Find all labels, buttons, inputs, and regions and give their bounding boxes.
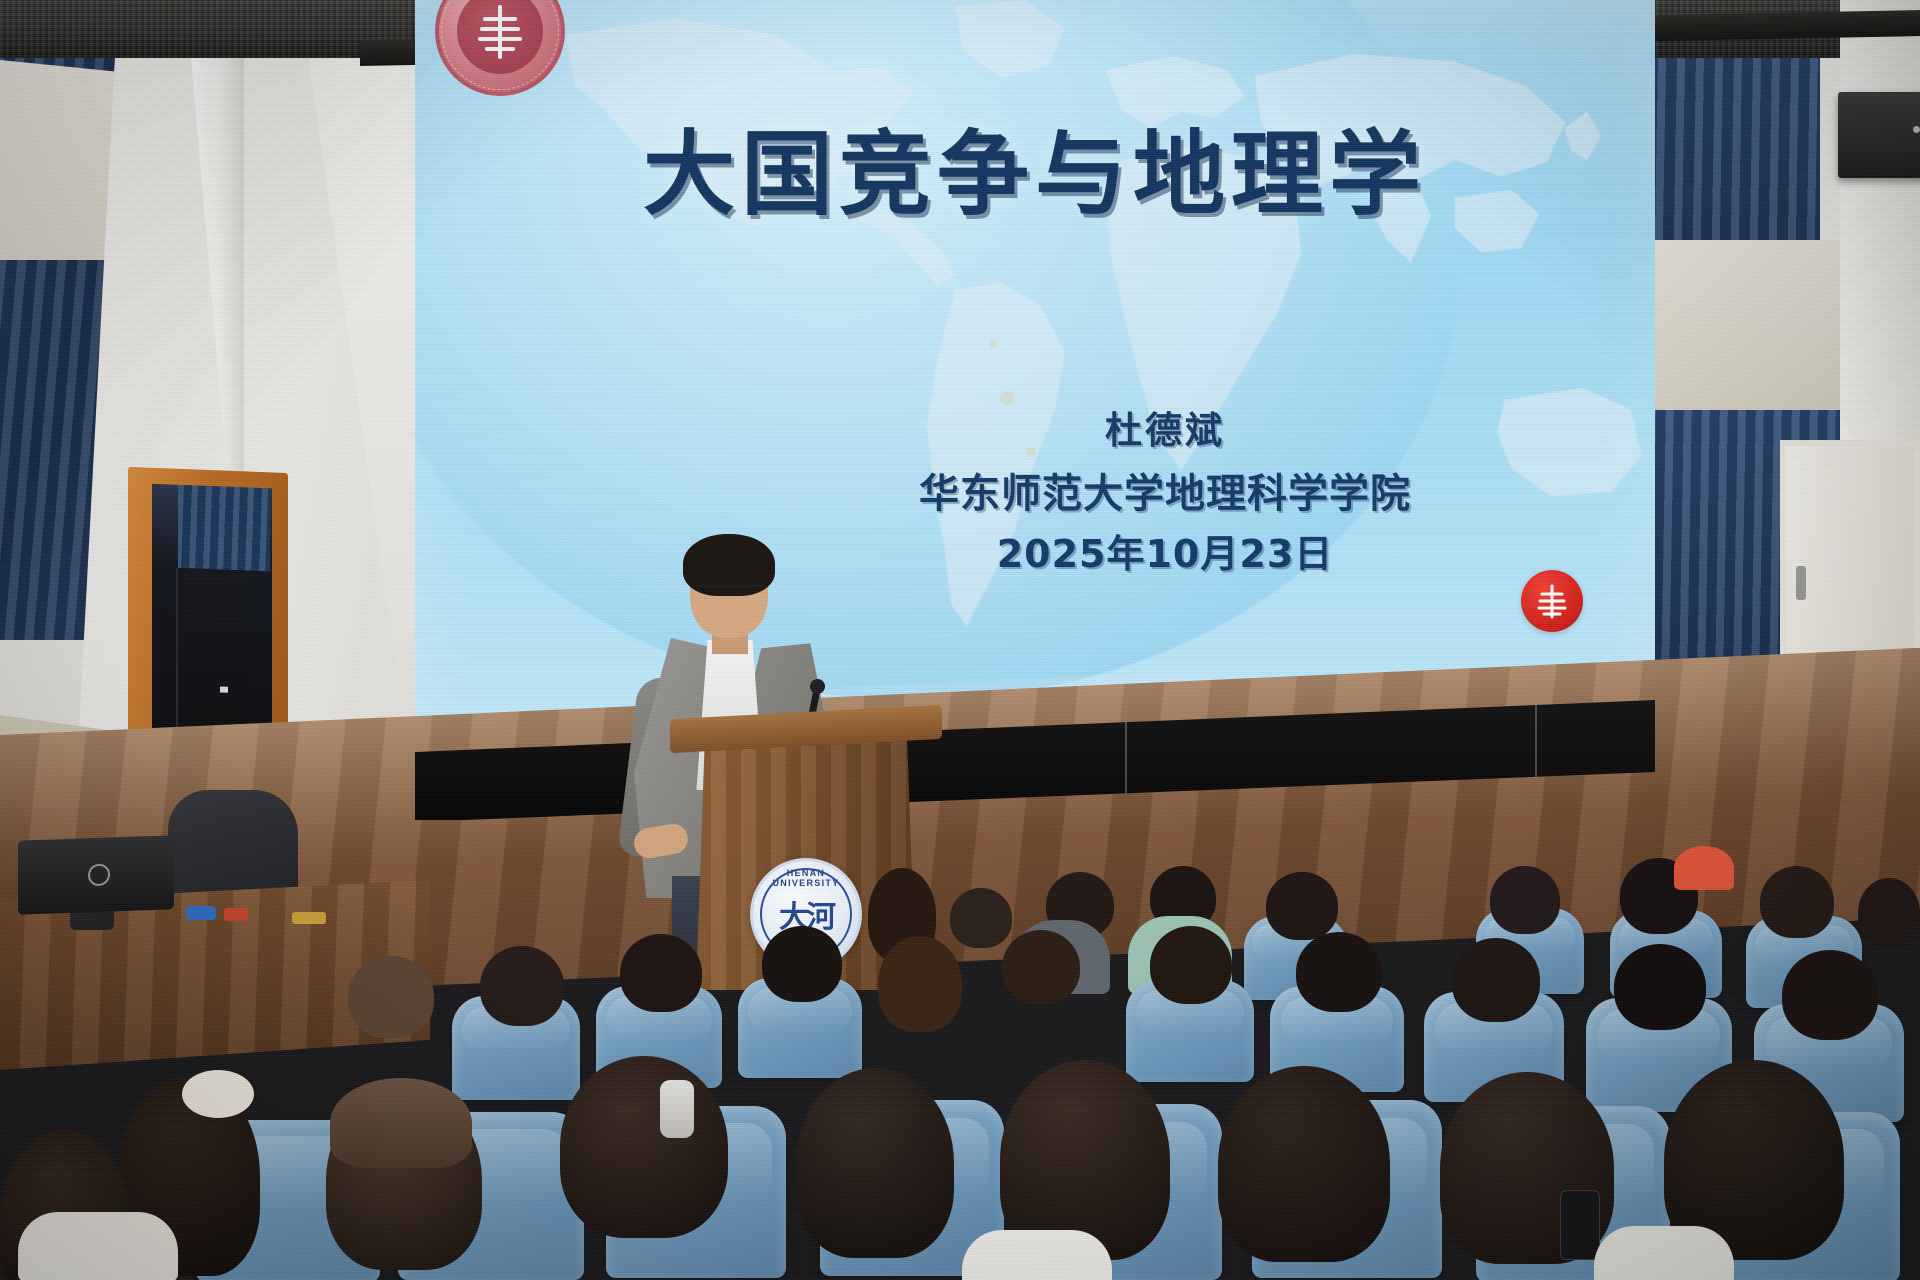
audience-head	[1452, 938, 1540, 1022]
lecture-hall-photo: 大国竞争与地理学 杜德斌 华东师范大学地理科学学院 2025年10月23日	[0, 0, 1920, 1280]
slide-meta-block: 杜德斌 华东师范大学地理科学学院 2025年10月23日	[795, 400, 1535, 578]
audience-head	[620, 934, 702, 1012]
hair-bun-icon	[182, 1070, 254, 1118]
audience-head	[878, 936, 962, 1032]
audience	[0, 760, 1920, 1280]
audience-head	[560, 1056, 728, 1238]
audience-head	[1296, 932, 1382, 1012]
audience-head	[796, 1068, 954, 1258]
audience-head	[1674, 846, 1734, 890]
seal-tree-icon	[439, 0, 561, 92]
slide-title: 大国竞争与地理学	[415, 100, 1655, 233]
ecnu-mark-icon	[1521, 570, 1583, 632]
audience-body	[1594, 1226, 1734, 1280]
speaker-name: 杜德斌	[795, 400, 1535, 454]
audience-head	[1218, 1066, 1390, 1262]
audience-head	[1002, 930, 1080, 1004]
audience-head	[1266, 872, 1338, 940]
audience-head	[1614, 944, 1706, 1030]
audience-head	[480, 946, 564, 1026]
audience-head	[1858, 878, 1920, 948]
phone-icon[interactable]	[1560, 1190, 1600, 1260]
audience-body	[18, 1212, 178, 1280]
audience-head	[1490, 866, 1560, 934]
door-curtain	[178, 485, 269, 571]
ecnu-seal-icon	[435, 0, 565, 96]
audience-head	[762, 926, 842, 1002]
speaker-affiliation: 华东师范大学地理科学学院	[795, 461, 1535, 519]
audience-body	[962, 1230, 1112, 1280]
presentation-screen[interactable]: 大国竞争与地理学 杜德斌 华东师范大学地理科学学院 2025年10月23日	[415, 0, 1655, 752]
audience-head	[1760, 866, 1834, 938]
audience-head	[348, 956, 434, 1038]
glasses-icon	[696, 584, 764, 597]
hair-clip-icon	[660, 1080, 694, 1138]
rack-led-icon	[220, 686, 228, 692]
audience-head	[1150, 926, 1232, 1004]
lecture-date: 2025年10月23日	[795, 523, 1535, 578]
audience-head	[1782, 950, 1878, 1040]
beanie-icon	[330, 1078, 472, 1168]
audience-head	[950, 888, 1012, 948]
loudspeaker	[1838, 92, 1920, 178]
